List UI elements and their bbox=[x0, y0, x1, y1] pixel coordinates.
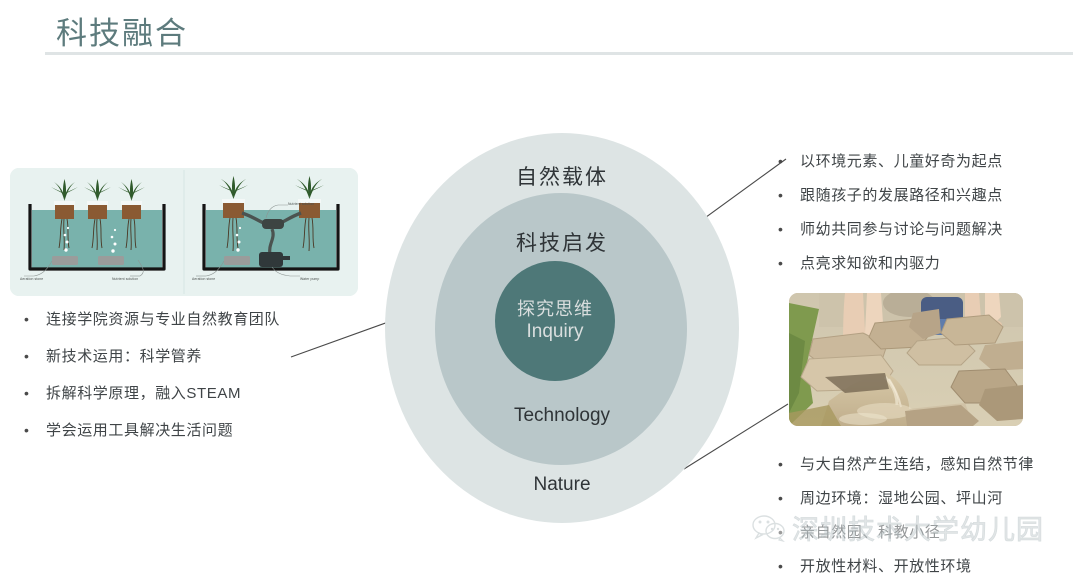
bullet-label: 师幼共同参与讨论与问题解决 bbox=[800, 218, 1003, 239]
bullet-list-nature: • 与大自然产生连结，感知自然节律 • 周边环境：湿地公园、坪山河 • 亲自然园… bbox=[778, 453, 1034, 580]
nature-photo bbox=[789, 293, 1023, 426]
bullet-dot-icon: • bbox=[24, 423, 46, 437]
list-item: • 以环境元素、儿童好奇为起点 bbox=[778, 150, 1003, 171]
hydroponics-illustration: Aeration stone Nutrient solution Nutrien… bbox=[10, 168, 358, 296]
bullet-label: 学会运用工具解决生活问题 bbox=[46, 419, 233, 440]
bullet-dot-icon: • bbox=[24, 386, 46, 400]
label-nature-en: Nature bbox=[385, 474, 739, 496]
label-nature-cn: 自然载体 bbox=[385, 161, 739, 191]
list-item: • 开放性材料、开放性环境 bbox=[778, 555, 1034, 576]
label-technology-en: Technology bbox=[385, 405, 739, 427]
list-item: • 新技术运用：科学管养 bbox=[24, 345, 280, 366]
list-item: • 连接学院资源与专业自然教育团队 bbox=[24, 308, 280, 329]
bullet-label: 开放性材料、开放性环境 bbox=[800, 555, 972, 576]
concentric-circle-diagram: 自然载体 科技启发 Technology Nature 探究思维 Inquiry bbox=[385, 133, 735, 523]
bullet-dot-icon: • bbox=[778, 222, 800, 236]
hydro-caption-aeration-stone-left: Aeration stone bbox=[20, 277, 43, 281]
list-item: • 师幼共同参与讨论与问题解决 bbox=[778, 218, 1003, 239]
bullet-label: 新技术运用：科学管养 bbox=[46, 345, 202, 366]
nature-photo-svg bbox=[789, 293, 1023, 426]
list-item: • 拆解科学原理，融入STEAM bbox=[24, 382, 280, 403]
bullet-label: 跟随孩子的发展路径和兴趣点 bbox=[800, 184, 1003, 205]
hydro-caption-nutrient-solution-left: Nutrient solution bbox=[112, 277, 138, 281]
list-item: • 与大自然产生连结，感知自然节律 bbox=[778, 453, 1034, 474]
bullet-label: 与大自然产生连结，感知自然节律 bbox=[800, 453, 1034, 474]
label-inquiry-en: Inquiry bbox=[526, 320, 583, 344]
hydro-caption-water-pump: Water pump bbox=[300, 277, 319, 281]
label-technology-cn: 科技启发 bbox=[385, 227, 739, 257]
hydro-caption-nutrient-solution-right: Nutrient solution bbox=[288, 202, 314, 206]
bullet-dot-icon: • bbox=[24, 349, 46, 363]
bullet-dot-icon: • bbox=[778, 154, 800, 168]
bullet-list-technology: • 连接学院资源与专业自然教育团队 • 新技术运用：科学管养 • 拆解科学原理，… bbox=[24, 308, 280, 456]
list-item: • 点亮求知欲和内驱力 bbox=[778, 252, 1003, 273]
bullet-dot-icon: • bbox=[24, 312, 46, 326]
bullet-label: 周边环境：湿地公园、坪山河 bbox=[800, 487, 1003, 508]
bullet-dot-icon: • bbox=[778, 525, 800, 539]
slide-canvas: 科技融合 自然载体 科技启发 Technology Nature 探究思维 In… bbox=[0, 0, 1080, 580]
list-item: • 周边环境：湿地公园、坪山河 bbox=[778, 487, 1034, 508]
inner-circle-label: 探究思维 Inquiry bbox=[495, 261, 615, 381]
bullet-label: 点亮求知欲和内驱力 bbox=[800, 252, 940, 273]
bullet-dot-icon: • bbox=[778, 457, 800, 471]
bullet-label: 连接学院资源与专业自然教育团队 bbox=[46, 308, 280, 329]
bullet-dot-icon: • bbox=[778, 491, 800, 505]
bullet-dot-icon: • bbox=[778, 559, 800, 573]
label-inquiry-cn: 探究思维 bbox=[517, 298, 593, 321]
list-item: • 跟随孩子的发展路径和兴趣点 bbox=[778, 184, 1003, 205]
bullet-dot-icon: • bbox=[778, 256, 800, 270]
list-item: • 学会运用工具解决生活问题 bbox=[24, 419, 280, 440]
bullet-dot-icon: • bbox=[778, 188, 800, 202]
bullet-label: 亲自然园、科教小径 bbox=[800, 521, 940, 542]
bullet-label: 拆解科学原理，融入STEAM bbox=[46, 382, 241, 403]
hydro-caption-aeration-stone-right: Aeration stone bbox=[192, 277, 215, 281]
bullet-label: 以环境元素、儿童好奇为起点 bbox=[800, 150, 1003, 171]
list-item: • 亲自然园、科教小径 bbox=[778, 521, 1034, 542]
bullet-list-inquiry: • 以环境元素、儿童好奇为起点 • 跟随孩子的发展路径和兴趣点 • 师幼共同参与… bbox=[778, 150, 1003, 286]
